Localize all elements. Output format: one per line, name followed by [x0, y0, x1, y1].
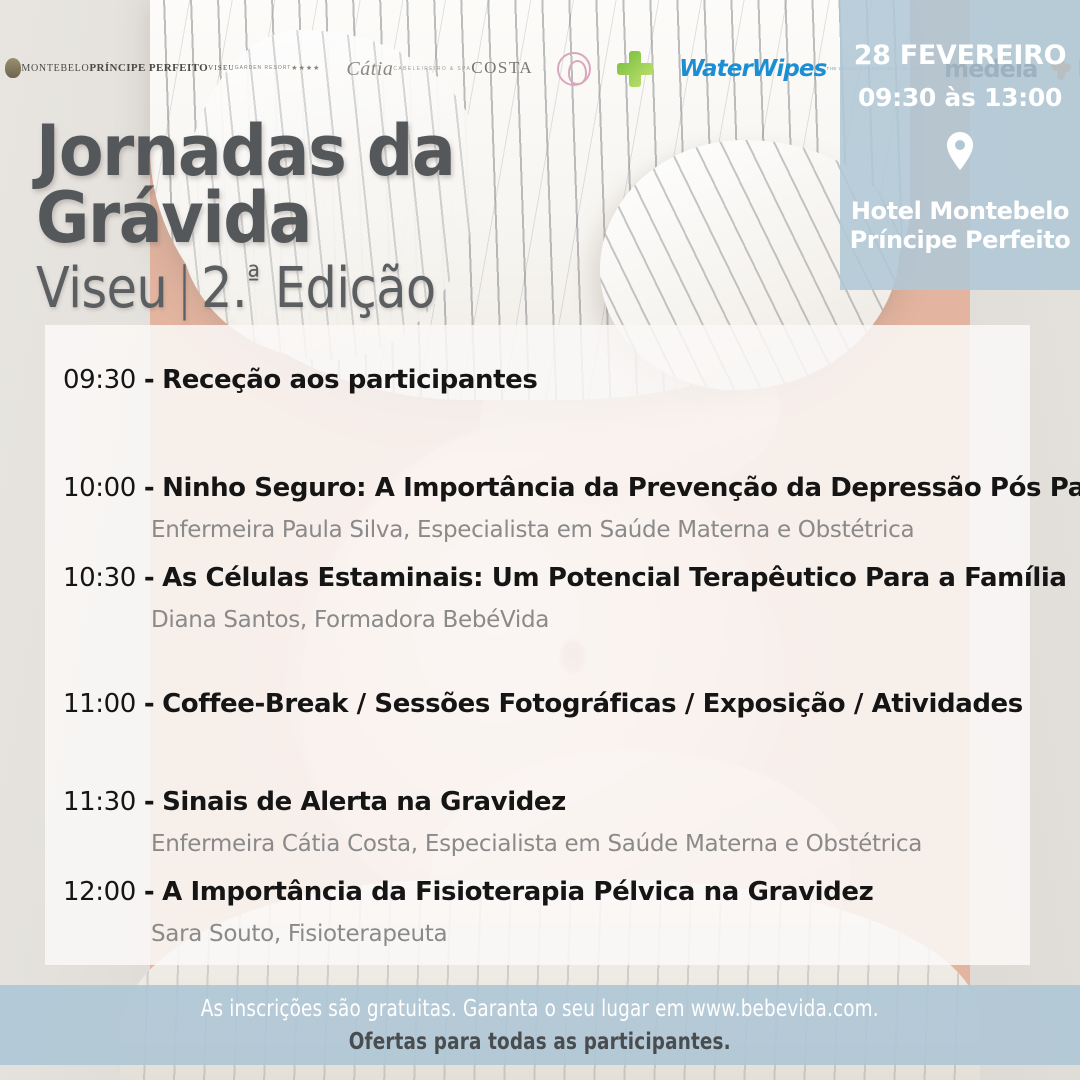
schedule-time: 11:00 [63, 689, 136, 719]
schedule-row-main: 09:30 - Receção aos participantes [63, 365, 1012, 395]
catia-sub-text: CABELEIREIRO & SPA [393, 67, 471, 72]
schedule-dash: - [144, 563, 154, 593]
schedule-row: 12:00 - A Importância da Fisioterapia Pé… [45, 877, 1030, 947]
headline-edition-number: 2. [201, 256, 247, 321]
schedule-dash: - [144, 689, 154, 719]
schedule-title: A Importância da Fisioterapia Pélvica na… [162, 877, 873, 907]
montebelo-crest-icon [5, 58, 21, 78]
event-date: 28 FEVEREIRO [854, 40, 1067, 71]
poster-headline: Jornadas da Grávida Viseu|2.ª Edição [36, 118, 796, 317]
schedule-title: As Células Estaminais: Um Potencial Tera… [162, 563, 1066, 593]
monogram-ring-icon [557, 52, 591, 86]
catia-script-text: Cátia [346, 59, 393, 79]
schedule-row: 09:30 - Receção aos participantes [45, 365, 1030, 395]
event-poster: BeBeViDa MAMÁSEM Dúvida MONTEBELO PRÍNCI… [0, 0, 1080, 1080]
schedule-row-main: 12:00 - A Importância da Fisioterapia Pé… [63, 877, 1012, 907]
montebelo-stars: ★★★★ [291, 65, 320, 73]
montebelo-line4: GARDEN RESORT [235, 66, 292, 71]
schedule-row-main: 11:00 - Coffee-Break / Sessões Fotográfi… [63, 689, 1012, 719]
waterwipes-text: WaterWipes [679, 58, 826, 81]
catia-costa-word: COSTA [471, 59, 533, 76]
event-venue: Hotel Montebelo Príncipe Perfeito [850, 197, 1071, 255]
location-pin-icon [945, 132, 975, 175]
schedule-title: Sinais de Alerta na Gravidez [162, 787, 566, 817]
event-info-panel: 28 FEVEREIRO 09:30 às 13:00 Hotel Monteb… [840, 0, 1080, 290]
schedule-time: 12:00 [63, 877, 136, 907]
event-time: 09:30 às 13:00 [858, 83, 1062, 112]
schedule-row: 11:30 - Sinais de Alerta na Gravidez Enf… [45, 787, 1030, 857]
schedule-panel: 09:30 - Receção aos participantes 10:00 … [45, 325, 1030, 965]
venue-line-1: Hotel Montebelo [850, 197, 1071, 226]
schedule-speaker: Enfermeira Paula Silva, Especialista em … [63, 517, 1012, 543]
schedule-row: 11:00 - Coffee-Break / Sessões Fotográfi… [45, 689, 1030, 719]
pharmacy-cross-logo [617, 51, 653, 87]
sponsor-logo-bar: BeBeViDa MAMÁSEM Dúvida MONTEBELO PRÍNCI… [0, 40, 840, 98]
schedule-time: 10:30 [63, 563, 136, 593]
headline-city: Viseu [36, 256, 167, 321]
schedule-dash: - [144, 787, 154, 817]
schedule-title: Receção aos participantes [162, 365, 537, 395]
headline-subtitle: Viseu|2.ª Edição [36, 260, 705, 317]
montebelo-line3: VISEU [208, 65, 235, 73]
schedule-time: 09:30 [63, 365, 136, 395]
schedule-speaker: Sara Souto, Fisioterapeuta [63, 921, 1012, 947]
schedule-speaker: Diana Santos, Formadora BebéVida [63, 607, 1012, 633]
schedule-time: 10:00 [63, 473, 136, 503]
schedule-row: 10:30 - As Células Estaminais: Um Potenc… [45, 563, 1030, 633]
green-cross-icon [617, 51, 653, 87]
schedule-dash: - [144, 473, 154, 503]
schedule-speaker: Enfermeira Cátia Costa, Especialista em … [63, 831, 1012, 857]
schedule-row-main: 10:30 - As Células Estaminais: Um Potenc… [63, 563, 1012, 593]
page-title: Jornadas da Grávida [36, 118, 743, 252]
montebelo-line2: PRÍNCIPE PERFEITO [89, 63, 208, 75]
catia-costa-logo: Cátia CABELEIREIRO & SPA COSTA [346, 59, 533, 79]
headline-separator: | [167, 256, 201, 321]
venue-line-2: Príncipe Perfeito [850, 226, 1071, 255]
schedule-row-main: 10:00 - Ninho Seguro: A Importância da P… [63, 473, 1012, 503]
monogram-logo [557, 52, 591, 86]
schedule-row-main: 11:30 - Sinais de Alerta na Gravidez [63, 787, 1012, 817]
footer-line-1: As inscrições são gratuitas. Garanta o s… [201, 996, 879, 1022]
montebelo-logo: MONTEBELO PRÍNCIPE PERFEITO VISEU GARDEN… [5, 58, 320, 80]
schedule-dash: - [144, 365, 154, 395]
schedule-title: Ninho Seguro: A Importância da Prevenção… [162, 473, 1080, 503]
schedule-row: 10:00 - Ninho Seguro: A Importância da P… [45, 473, 1030, 543]
schedule-time: 11:30 [63, 787, 136, 817]
montebelo-line1: MONTEBELO [21, 64, 89, 75]
schedule-dash: - [144, 877, 154, 907]
headline-edition-sup: ª [247, 260, 259, 296]
headline-edition-word: Edição [275, 256, 436, 321]
footer-line-2: Ofertas para todas as participantes. [349, 1029, 731, 1055]
footer-band: As inscrições são gratuitas. Garanta o s… [0, 985, 1080, 1065]
schedule-title: Coffee-Break / Sessões Fotográficas / Ex… [162, 689, 1023, 719]
